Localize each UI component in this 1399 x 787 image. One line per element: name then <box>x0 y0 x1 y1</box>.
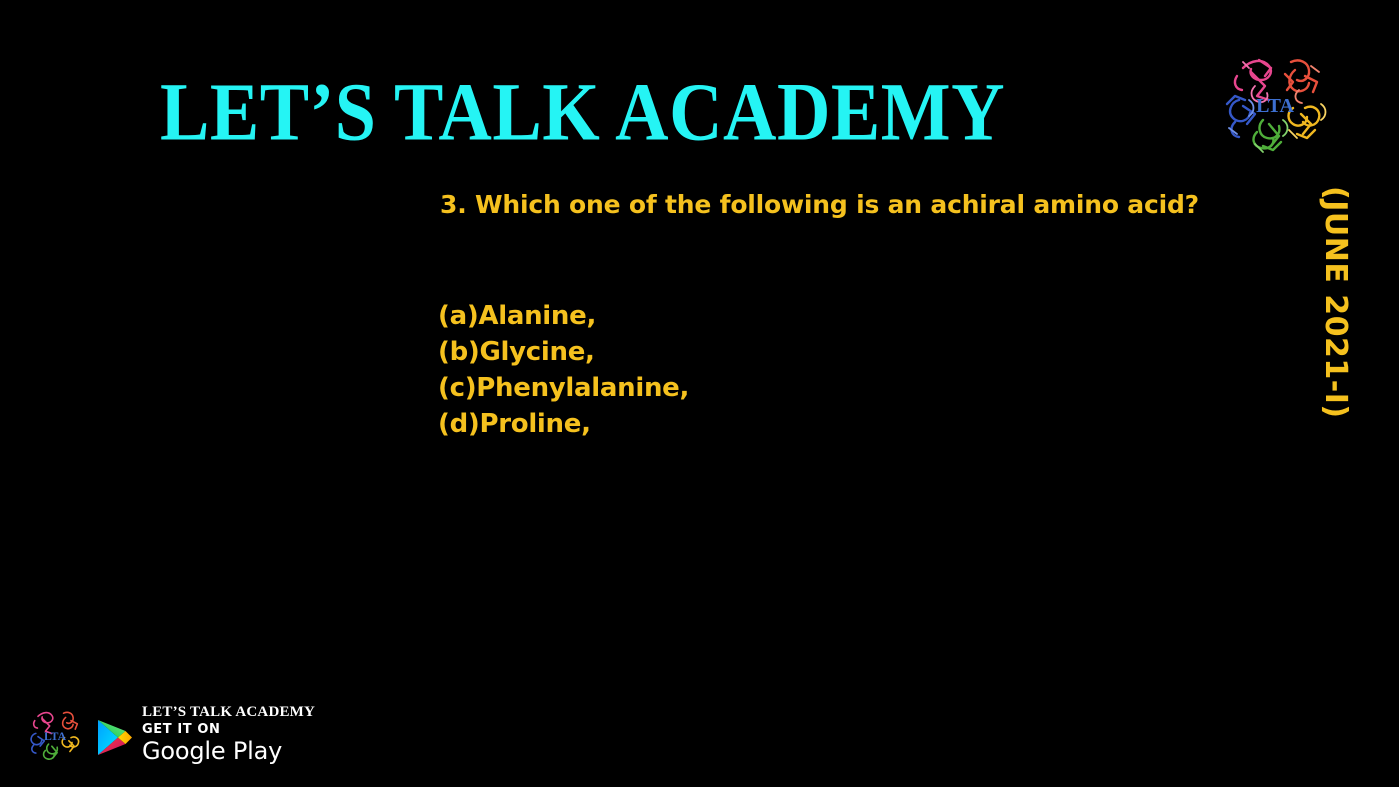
academy-logo-icon: LTA <box>1213 42 1337 164</box>
logo-center-text-small: LTA <box>44 730 67 743</box>
session-label-container: (JUNE 2021-I) <box>1313 186 1357 456</box>
question-text: 3. Which one of the following is an achi… <box>440 189 1199 221</box>
google-play-badge-text: LET’S TALK ACADEMY GET IT ON Google Play <box>142 703 312 765</box>
slide-canvas: LET’S TALK ACADEMY <box>0 0 1399 787</box>
session-label: (JUNE 2021-I) <box>1320 186 1350 419</box>
answer-option-a[interactable]: (a)Alanine, <box>438 298 689 334</box>
answer-option-b[interactable]: (b)Glycine, <box>438 334 689 370</box>
get-it-on-label: GET IT ON <box>142 721 312 738</box>
footer-brand-name: LET’S TALK ACADEMY <box>142 703 312 721</box>
google-play-icon <box>94 717 136 759</box>
protein-pentamer-icon: LTA <box>1213 42 1337 164</box>
answer-option-c[interactable]: (c)Phenylalanine, <box>438 370 689 406</box>
google-play-badge[interactable]: LET’S TALK ACADEMY GET IT ON Google Play <box>94 703 304 769</box>
page-title: LET’S TALK ACADEMY <box>160 68 1010 158</box>
protein-pentamer-small-icon: LTA <box>22 702 88 768</box>
google-play-label: Google Play <box>142 738 312 765</box>
answer-options-list: (a)Alanine, (b)Glycine, (c)Phenylalanine… <box>438 298 689 442</box>
academy-logo-footer-icon: LTA <box>22 702 88 768</box>
answer-option-d[interactable]: (d)Proline, <box>438 406 689 442</box>
logo-center-text: LTA <box>1256 95 1294 117</box>
play-triangle-icon <box>94 717 136 759</box>
